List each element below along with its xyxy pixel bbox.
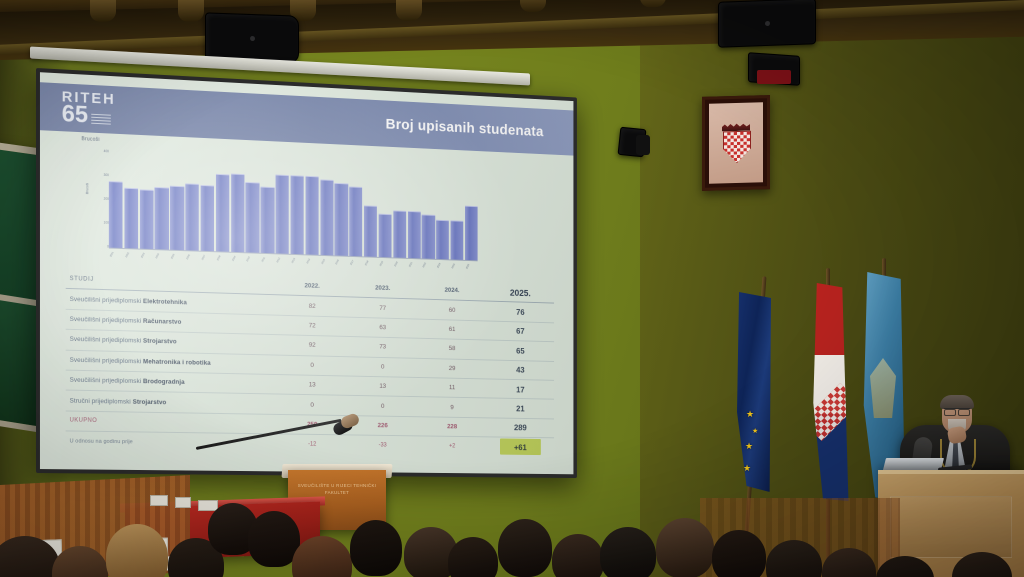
cell-value: 92 <box>277 341 348 350</box>
chart-bar <box>408 211 421 259</box>
chart-y-ticks: 4003002001000 <box>91 149 109 249</box>
chart-bar <box>201 184 215 252</box>
chart-x-tick: 2003 <box>138 249 155 267</box>
chart-bar <box>436 220 449 261</box>
program-name: Sveučilišni prijediplomski Elektrotehnik… <box>66 295 277 308</box>
chart-x-tick: 2012 <box>274 253 290 271</box>
chart-x-tick: 2007 <box>199 251 215 269</box>
cell-value: 63 <box>348 323 418 332</box>
program-name: Sveučilišni prijediplomski Brodogradnja <box>66 377 277 388</box>
delta-value: +61 <box>486 439 554 456</box>
cell-value: 76 <box>486 306 554 317</box>
cell-value: 0 <box>348 363 418 371</box>
chart-x-tick: 2017 <box>348 256 364 274</box>
cell-value: 0 <box>277 401 348 409</box>
chart-bar <box>140 189 154 250</box>
chart-bar <box>335 183 348 257</box>
cell-value: 29 <box>418 364 487 372</box>
audience-head <box>552 534 604 577</box>
program-name: Sveučilišni prijediplomski Mehatronika i… <box>66 356 277 368</box>
audience-head <box>600 527 656 577</box>
chart-x-tick: 2001 <box>107 248 124 266</box>
chart-bar <box>305 175 318 255</box>
flag-emblem <box>870 358 896 418</box>
wall-speaker-center-arm <box>636 135 650 155</box>
column-header-year: 2022. <box>277 282 348 291</box>
podium-label: SVEUČILIŠTE U RIJECI TEHNIČKI FAKULTET <box>294 482 380 496</box>
logo-subtext-lines <box>91 114 111 127</box>
eu-star-icon: ★ <box>752 428 758 435</box>
cell-value: 17 <box>486 384 554 395</box>
riteh-logo: RITEH 65 <box>62 89 116 127</box>
chart-bar <box>170 185 184 251</box>
enrollment-table: STUDIJ2022.2023.2024.2025.Sveučilišni pr… <box>66 269 554 457</box>
total-value: 289 <box>486 423 554 433</box>
chart-bar <box>155 187 169 251</box>
chart-bar <box>231 174 244 254</box>
cell-value: 61 <box>418 325 487 334</box>
chart-bar <box>276 174 289 255</box>
chart-x-tick: 2014 <box>304 254 320 272</box>
lecture-hall-photo: RITEH 65 Broj upisanih studenata Brucoši… <box>0 0 1024 577</box>
chart-x-tick: 2009 <box>229 252 245 270</box>
delta-value: -12 <box>277 441 348 448</box>
chart-x-tick: 2019 <box>377 257 393 275</box>
coat-of-arms-crown <box>722 123 750 132</box>
chart-x-tick: 2013 <box>289 254 305 272</box>
chart-bar <box>320 179 333 256</box>
delta-value: +2 <box>418 443 487 450</box>
chart-bar <box>451 220 464 261</box>
audience-head <box>712 530 766 577</box>
ceiling-light-6 <box>640 0 666 7</box>
total-label: UKUPNO <box>66 418 277 427</box>
chart-x-tick: 2006 <box>184 250 201 268</box>
chart-x-tick: 2010 <box>244 252 260 270</box>
column-header-year: 2023. <box>348 284 418 293</box>
audience-head <box>656 518 714 577</box>
chart-x-tick: 2021 <box>406 258 422 276</box>
program-name: Stručni prijediplomski Strojarstvo <box>66 397 277 408</box>
chart-bar <box>379 214 392 259</box>
frame-matting <box>709 102 763 183</box>
eu-star-icon: ★ <box>745 442 753 451</box>
program-name: Sveučilišni prijediplomski Strojarstvo <box>66 336 277 348</box>
cell-value: 82 <box>277 302 348 311</box>
chart-title: Brucoši <box>81 136 99 143</box>
chart-bar <box>109 181 123 249</box>
framed-coat-of-arms <box>702 95 770 191</box>
chart-bar <box>364 205 377 257</box>
wall-plate-1 <box>150 495 168 506</box>
lectern-front-panel <box>890 496 1012 558</box>
chart-bar <box>124 187 138 249</box>
chart-x-tick: 2024 <box>449 259 465 276</box>
cell-value: 67 <box>486 326 554 337</box>
chart-bar <box>261 187 274 255</box>
audience-head <box>350 520 402 576</box>
cell-value: 9 <box>418 403 487 411</box>
eyeglasses-icon <box>944 408 970 414</box>
chart-x-tick: 2004 <box>154 249 171 267</box>
cell-value: 13 <box>348 382 418 390</box>
chart-x-tick: 2002 <box>123 248 140 266</box>
ceiling-light-4 <box>396 0 422 21</box>
chart-plot-area <box>109 149 478 261</box>
chart-x-tick: 2018 <box>363 256 379 274</box>
logo-anniversary-number: 65 <box>62 104 88 126</box>
program-name: Sveučilišni prijediplomski Računarstvo <box>66 316 277 329</box>
cell-value: 43 <box>486 364 554 375</box>
chart-x-tick: 2022 <box>421 259 437 277</box>
ceiling-speaker-right <box>718 0 816 48</box>
cell-value: 0 <box>277 361 348 369</box>
chart-bar <box>246 182 259 254</box>
projection-screen: RITEH 65 Broj upisanih studenata Brucoši… <box>36 68 577 478</box>
column-header-studij: STUDIJ <box>66 276 277 288</box>
coat-of-arms-shield <box>723 131 751 164</box>
cell-value: 65 <box>486 345 554 356</box>
delta-value: -33 <box>348 442 418 449</box>
chart-y-axis-label: Brucoši <box>85 183 89 194</box>
cell-value: 73 <box>348 343 418 351</box>
column-header-year: 2024. <box>418 286 487 295</box>
cell-value: 60 <box>418 306 487 315</box>
chart-bar <box>349 186 362 257</box>
croatian-coat-of-arms-icon <box>721 123 751 164</box>
chart-bar <box>291 175 304 256</box>
cell-value: 77 <box>348 304 418 313</box>
cell-value: 0 <box>348 402 418 410</box>
cell-value: 13 <box>277 381 348 389</box>
cell-value: 72 <box>277 321 348 330</box>
presentation-slide: RITEH 65 Broj upisanih studenata Brucoši… <box>40 72 573 474</box>
chart-bar <box>465 206 478 262</box>
audience-head <box>498 519 552 577</box>
slide-title: Broj upisanih studenata <box>386 115 544 139</box>
chart-bar <box>216 173 230 252</box>
ceiling-light-1 <box>90 0 116 22</box>
hair <box>940 395 974 409</box>
chart-x-tick: 2025 <box>464 260 480 277</box>
chart-bar <box>185 183 199 251</box>
cell-value: 11 <box>418 384 487 392</box>
chart-x-tick: 2005 <box>169 250 186 268</box>
screen-surface: RITEH 65 Broj upisanih studenata Brucoši… <box>40 72 573 474</box>
cell-value: 21 <box>486 403 554 414</box>
speaker-cone-icon <box>250 36 255 41</box>
chart-x-tick: 2020 <box>392 257 408 275</box>
chart-x-tick: 2008 <box>214 251 230 269</box>
bar-chart: Brucoši Brucoši 4003002001000 2001200220… <box>77 136 481 277</box>
chart-x-tick: 2011 <box>259 253 275 271</box>
wall-speaker-right-accent <box>757 70 791 84</box>
ceiling-light-2 <box>178 0 204 22</box>
column-header-year: 2025. <box>486 286 554 299</box>
ceiling-light-5 <box>520 0 546 12</box>
cell-value: 58 <box>418 345 487 353</box>
chart-x-tick: 2016 <box>333 255 349 273</box>
chart-x-tick: 2015 <box>319 255 335 273</box>
eu-star-icon: ★ <box>746 410 754 419</box>
total-value: 228 <box>418 423 487 431</box>
wall-plate-2 <box>175 497 191 508</box>
speaker-cone-icon <box>765 21 770 26</box>
chart-bar <box>393 210 406 258</box>
chart-bar <box>422 214 435 260</box>
delta-highlight-badge: +61 <box>500 439 541 456</box>
chart-x-tick: 2023 <box>435 259 451 276</box>
